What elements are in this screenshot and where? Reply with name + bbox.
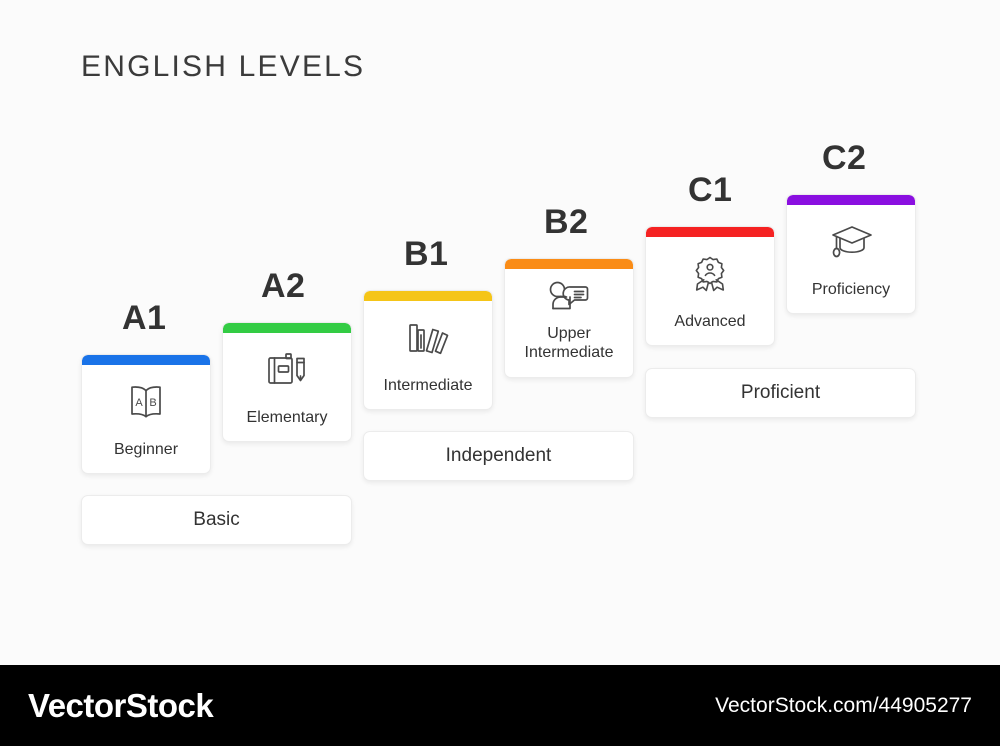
vectorstock-url: VectorStock.com/44905277: [715, 694, 972, 718]
group-label-proficient: Proficient: [741, 382, 820, 404]
level-label-c1: Advanced: [646, 312, 774, 345]
group-bar-proficient[interactable]: Proficient: [645, 368, 916, 418]
books-icon: [364, 301, 492, 376]
level-label-c2: Proficiency: [787, 280, 915, 313]
graduation-cap-icon: [787, 205, 915, 280]
level-card-b2[interactable]: Upper Intermediate: [504, 258, 634, 378]
level-label-a2: Elementary: [223, 408, 351, 441]
level-accent-bar-b2: [505, 259, 633, 269]
level-accent-bar-c1: [646, 227, 774, 237]
level-label-b2: Upper Intermediate: [505, 324, 633, 377]
level-code-c2: C2: [822, 139, 866, 178]
infographic-canvas: ENGLISH LEVELS A1 A2 B1 B2 C1 C2 A B Beg…: [0, 0, 1000, 665]
group-label-basic: Basic: [193, 509, 239, 531]
svg-text:A: A: [135, 397, 143, 409]
level-label-a1: Beginner: [82, 440, 210, 473]
notebook-pen-icon: [223, 333, 351, 408]
level-card-c1[interactable]: Advanced: [645, 226, 775, 346]
speaking-person-icon: [505, 269, 633, 324]
level-card-c2[interactable]: Proficiency: [786, 194, 916, 314]
level-code-a1: A1: [122, 299, 166, 338]
open-book-icon: A B: [82, 365, 210, 440]
svg-text:B: B: [149, 397, 156, 409]
footer-watermark-bar: VectorStock VectorStock.com/44905277: [0, 665, 1000, 746]
level-accent-bar-a2: [223, 323, 351, 333]
level-code-b2: B2: [544, 203, 588, 242]
level-label-b1: Intermediate: [364, 376, 492, 409]
level-card-b1[interactable]: Intermediate: [363, 290, 493, 410]
vectorstock-logo: VectorStock: [28, 687, 213, 725]
level-code-a2: A2: [261, 267, 305, 306]
level-card-a2[interactable]: Elementary: [222, 322, 352, 442]
level-accent-bar-a1: [82, 355, 210, 365]
award-badge-icon: [646, 237, 774, 312]
level-accent-bar-c2: [787, 195, 915, 205]
level-label-b2-line2: Intermediate: [505, 343, 633, 363]
level-code-c1: C1: [688, 171, 732, 210]
page-title: ENGLISH LEVELS: [81, 50, 365, 84]
level-card-a1[interactable]: A B Beginner: [81, 354, 211, 474]
level-accent-bar-b1: [364, 291, 492, 301]
group-bar-basic[interactable]: Basic: [81, 495, 352, 545]
group-bar-independent[interactable]: Independent: [363, 431, 634, 481]
level-code-b1: B1: [404, 235, 448, 274]
group-label-independent: Independent: [446, 445, 552, 467]
level-label-b2-line1: Upper: [505, 324, 633, 344]
